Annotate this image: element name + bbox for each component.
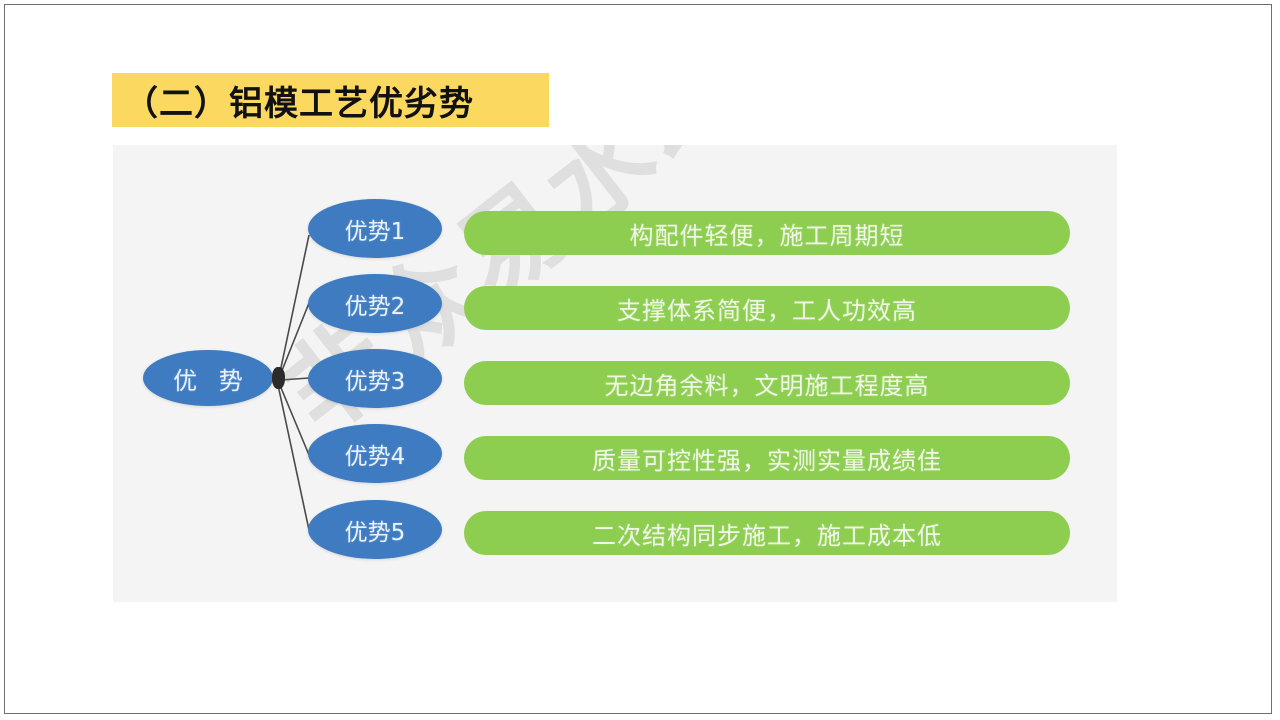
slide-canvas: （二）铝模工艺优劣势 非众易水印 优 势 优势1 优势2 优势3 bbox=[4, 4, 1272, 714]
branch-node-3[interactable]: 优势3 bbox=[308, 349, 442, 408]
advantage-bar-3[interactable]: 无边角余料，文明施工程度高 bbox=[464, 361, 1070, 405]
branch-node-4[interactable]: 优势4 bbox=[308, 424, 442, 483]
branch-node-2[interactable]: 优势2 bbox=[308, 274, 442, 333]
advantage-bar-1[interactable]: 构配件轻便，施工周期短 bbox=[464, 211, 1070, 255]
advantage-bar-2[interactable]: 支撑体系简便，工人功效高 bbox=[464, 286, 1070, 330]
diagram-panel: 非众易水印 优 势 优势1 优势2 优势3 优势4 优势5 构配件轻便，施工周期… bbox=[113, 145, 1117, 602]
root-node-advantage[interactable]: 优 势 bbox=[143, 350, 273, 406]
advantage-bar-5[interactable]: 二次结构同步施工，施工成本低 bbox=[464, 511, 1070, 555]
advantage-bar-4[interactable]: 质量可控性强，实测实量成绩佳 bbox=[464, 436, 1070, 480]
branch-node-5[interactable]: 优势5 bbox=[308, 500, 442, 559]
connector-hub bbox=[272, 367, 285, 389]
section-title-band: （二）铝模工艺优劣势 bbox=[112, 73, 549, 127]
branch-node-1[interactable]: 优势1 bbox=[308, 199, 442, 258]
diagram-nodes: 优 势 优势1 优势2 优势3 优势4 优势5 构配件轻便，施工周期短 支撑体系… bbox=[113, 145, 1117, 602]
page-title: （二）铝模工艺优劣势 bbox=[124, 76, 474, 125]
